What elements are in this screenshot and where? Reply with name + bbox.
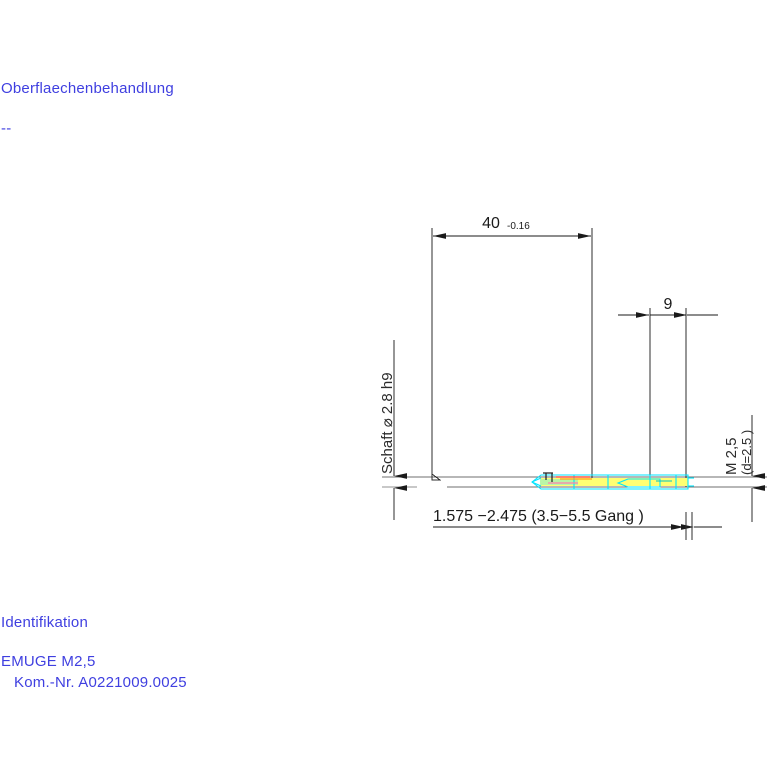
cad-drawing-canvas: Oberflaechenbehandlung -- 40 -0.16 9 Sch… bbox=[0, 0, 767, 767]
shank-diameter-label: Schaft ⌀ 2.8 h9 bbox=[379, 372, 396, 474]
identification-label: Identifikation bbox=[1, 614, 88, 631]
overall-length-value: 40 bbox=[482, 215, 500, 232]
technical-drawing-svg: Oberflaechenbehandlung -- 40 -0.16 9 Sch… bbox=[0, 0, 767, 767]
surface-treatment-title: Oberflaechenbehandlung bbox=[1, 80, 174, 97]
thread-length-value: 9 bbox=[664, 296, 673, 313]
overall-length-tolerance: -0.16 bbox=[507, 221, 530, 232]
manufacturer-line: EMUGE M2,5 bbox=[1, 653, 96, 670]
surface-treatment-value: -- bbox=[1, 120, 11, 137]
thread-spec-line2: (d=2.5 ) bbox=[739, 430, 754, 475]
thread-spec-line1: M 2,5 bbox=[723, 437, 740, 475]
order-number-line: Kom.-Nr. A0221009.0025 bbox=[14, 674, 187, 691]
pitch-range-label: 1.575 −2.475 (3.5−5.5 Gang ) bbox=[433, 508, 644, 525]
